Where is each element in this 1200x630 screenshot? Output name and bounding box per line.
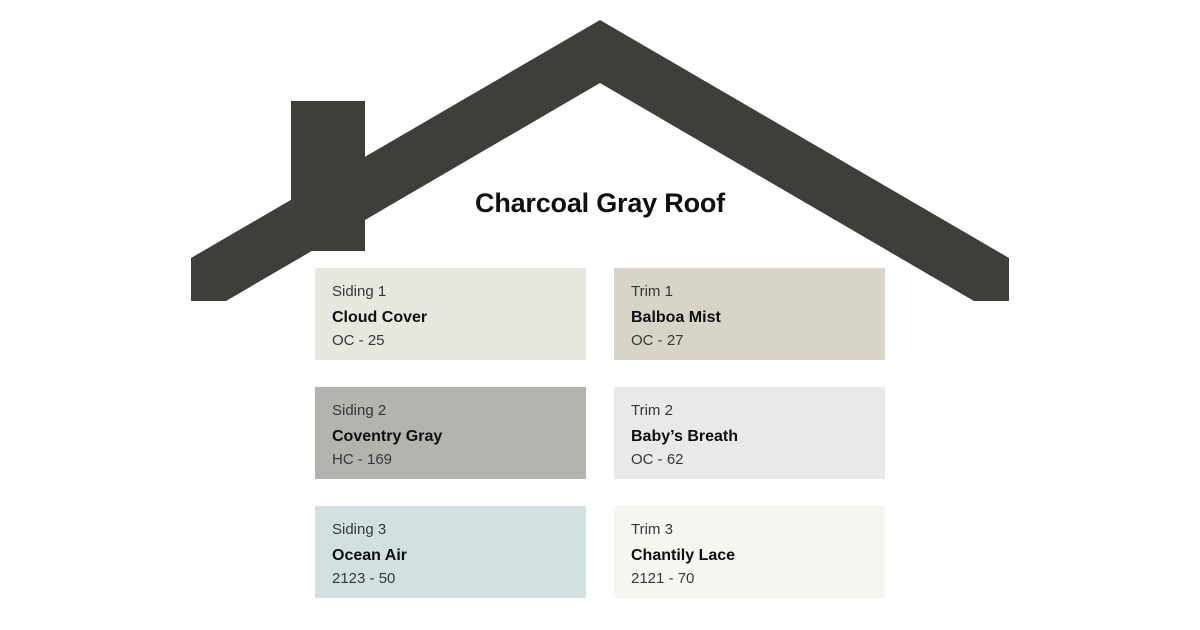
swatch-role-label: Trim 2	[631, 401, 885, 421]
swatch-color-name: Coventry Gray	[332, 426, 586, 447]
swatch-role-label: Trim 3	[631, 520, 885, 540]
color-scheme-board: Charcoal Gray Roof Siding 1 Cloud Cover …	[0, 0, 1200, 630]
swatch-color-code: HC - 169	[332, 450, 586, 470]
paint-swatch-grid: Siding 1 Cloud Cover OC - 25 Trim 1 Balb…	[315, 268, 885, 598]
swatch-card-trim-1[interactable]: Trim 1 Balboa Mist OC - 27	[614, 268, 885, 360]
swatch-card-trim-3[interactable]: Trim 3 Chantily Lace 2121 - 70	[614, 506, 885, 598]
swatch-color-code: 2123 - 50	[332, 569, 586, 589]
swatch-color-code: OC - 25	[332, 331, 586, 351]
swatch-color-name: Ocean Air	[332, 545, 586, 566]
swatch-card-siding-1[interactable]: Siding 1 Cloud Cover OC - 25	[315, 268, 586, 360]
swatch-card-siding-3[interactable]: Siding 3 Ocean Air 2123 - 50	[315, 506, 586, 598]
swatch-role-label: Trim 1	[631, 282, 885, 302]
page-title: Charcoal Gray Roof	[0, 186, 1200, 220]
swatch-color-code: 2121 - 70	[631, 569, 885, 589]
swatch-color-name: Cloud Cover	[332, 307, 586, 328]
swatch-color-name: Balboa Mist	[631, 307, 885, 328]
chimney-shape	[291, 101, 365, 251]
swatch-role-label: Siding 2	[332, 401, 586, 421]
swatch-color-name: Chantily Lace	[631, 545, 885, 566]
swatch-color-name: Baby’s Breath	[631, 426, 885, 447]
roof-band-shape	[191, 20, 1009, 301]
swatch-role-label: Siding 1	[332, 282, 586, 302]
swatch-color-code: OC - 27	[631, 331, 885, 351]
swatch-color-code: OC - 62	[631, 450, 885, 470]
swatch-card-trim-2[interactable]: Trim 2 Baby’s Breath OC - 62	[614, 387, 885, 479]
swatch-card-siding-2[interactable]: Siding 2 Coventry Gray HC - 169	[315, 387, 586, 479]
swatch-role-label: Siding 3	[332, 520, 586, 540]
